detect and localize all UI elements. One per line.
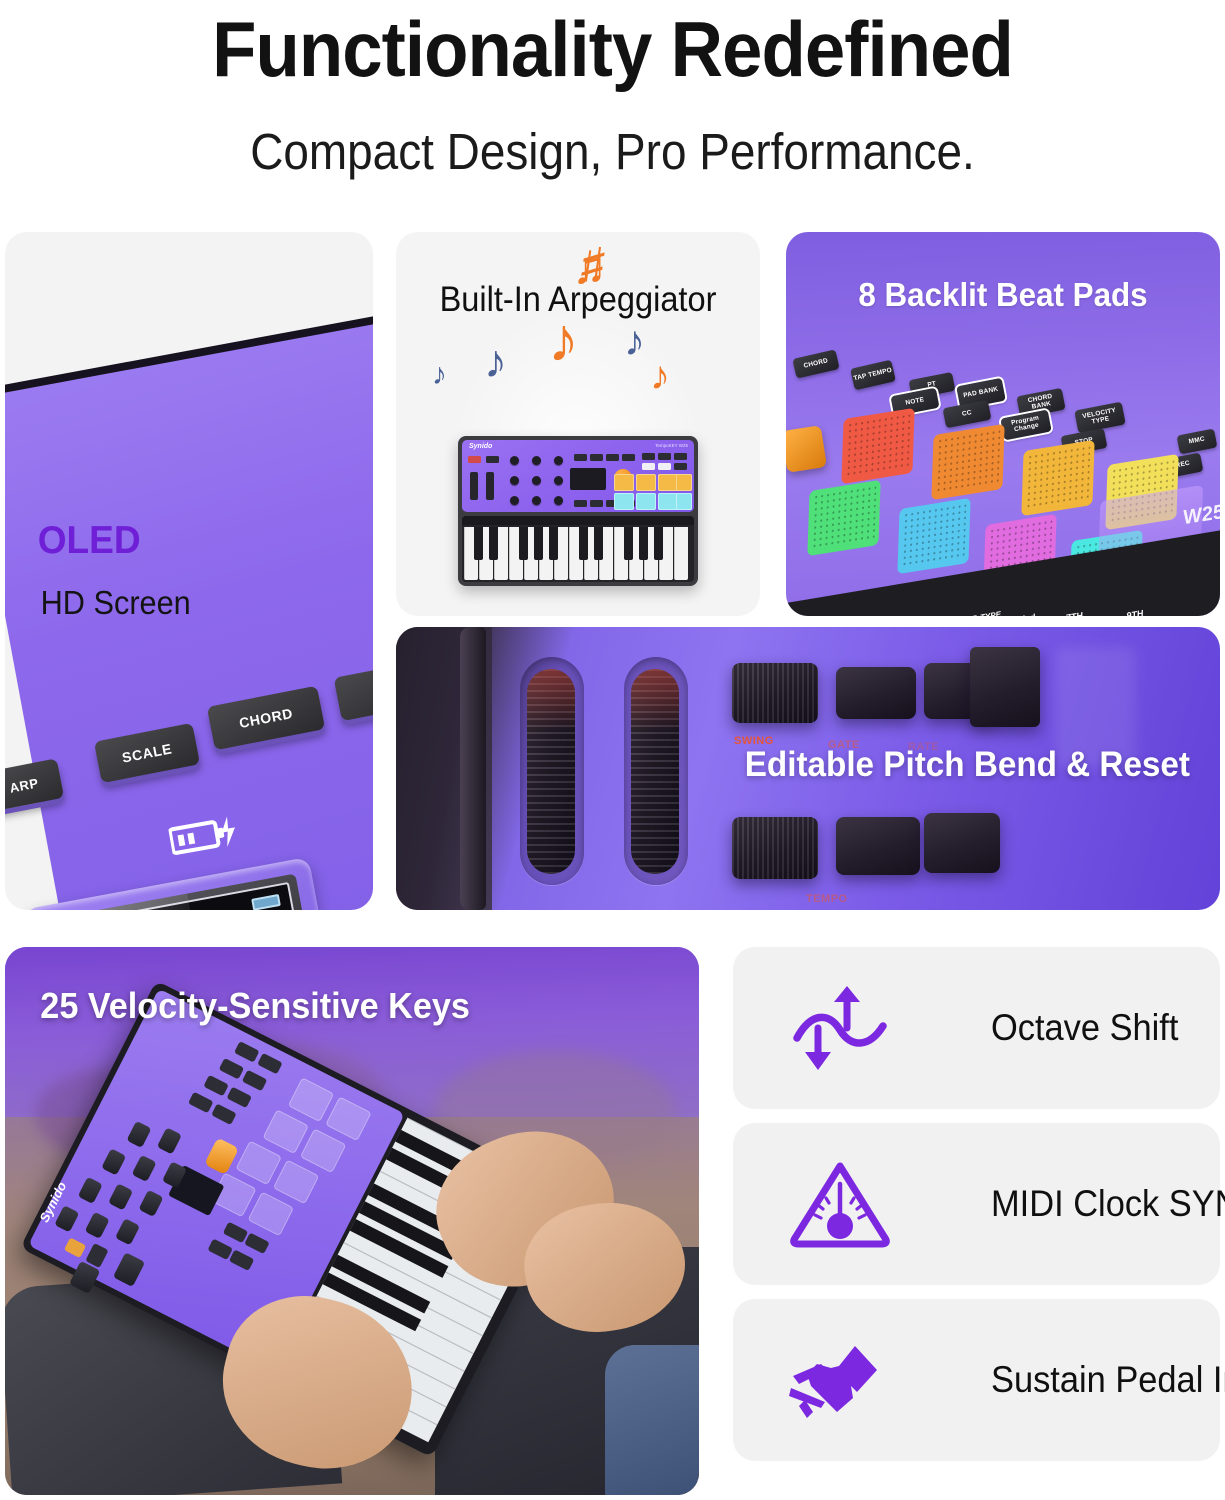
knob-gate	[836, 667, 916, 719]
knob-aux-2	[924, 813, 1000, 873]
mini-slider-pitch	[470, 472, 478, 500]
mini-keybed	[462, 516, 694, 582]
pads-button-chord: CHORD	[792, 349, 839, 378]
infographic-page: Functionality Redefined Compact Design, …	[0, 0, 1225, 1500]
pads-button-cc: CC	[943, 400, 992, 428]
device-brand-label: Synido	[469, 443, 492, 450]
feature-label-octave-shift: Octave Shift	[991, 1007, 1178, 1049]
beat-pad-2	[931, 424, 1004, 500]
mini-button-dark	[486, 456, 499, 463]
beat-pads-title: 8 Backlit Beat Pads	[797, 276, 1209, 314]
beat-pad-5	[807, 480, 880, 556]
arpeggiator-feature-card: ♯ ♫ ♪ ♪ ♪ ♪ ♪ Synido TempoKEY W25	[396, 232, 760, 616]
mini-display	[570, 468, 606, 490]
page-subtitle: Compact Design, Pro Performance.	[61, 122, 1164, 181]
keyboard-pitch-slider	[113, 1252, 145, 1287]
mini-button-red	[468, 456, 481, 463]
mini-key-label-strip	[462, 516, 694, 525]
oled-feature-card: ARP SCALE CHORD TempoKEY W25 TRANSPOSE O…	[5, 232, 373, 910]
knob-tempo	[732, 817, 818, 879]
velocity-keys-title: 25 Velocity-Sensitive Keys	[40, 985, 470, 1027]
knob-rate-2	[970, 647, 1040, 727]
feature-card-midi-clock-sync: MIDI Clock SYNC	[733, 1123, 1220, 1285]
pads-button-program-change: Program Change	[1000, 410, 1051, 441]
midi-clock-sync-icon	[785, 1158, 895, 1250]
keyboard-amber-button	[64, 1237, 86, 1258]
knob-aux-1	[836, 817, 920, 875]
feature-label-midi-clock-sync: MIDI Clock SYNC	[991, 1183, 1225, 1225]
beat-pad-1	[841, 408, 914, 484]
mini-slider-mod	[486, 472, 494, 500]
keyboard-orange-knob	[204, 1137, 239, 1175]
device-side-edge	[460, 627, 486, 910]
music-note-icon-5: ♪	[484, 338, 507, 384]
scene-jeans-denim	[605, 1345, 699, 1495]
page-title: Functionality Redefined	[43, 4, 1182, 95]
pitch-wheel-slot-2	[624, 657, 688, 885]
mod-wheel-highlight	[631, 669, 679, 731]
pitch-wheel-highlight	[527, 669, 575, 731]
pads-device-body: CHORD TAP TEMPO PT NOTE PAD BANK CC CHOR…	[786, 318, 1220, 616]
oled-subtitle: HD Screen	[41, 584, 191, 622]
pads-orange-knob	[786, 425, 827, 473]
beat-pads-feature-card: CHORD TAP TEMPO PT NOTE PAD BANK CC CHOR…	[786, 232, 1220, 616]
feature-label-sustain-pedal: Sustain Pedal Input	[991, 1359, 1225, 1401]
oled-title: OLED	[38, 519, 141, 563]
beat-pad-3	[1021, 440, 1094, 516]
pads-button-tap-tempo: TAP TEMPO	[850, 360, 896, 391]
mini-keyboard-illustration: Synido TempoKEY W25	[458, 436, 698, 586]
pitch-bend-feature-card: SWING GATE RATE TEMPO Editable Pitch Ben…	[396, 627, 1220, 910]
knob-swing	[732, 663, 818, 723]
octave-shift-icon	[785, 982, 895, 1074]
pads-button-mmc: MMC	[1177, 429, 1218, 455]
key-label-7th: 7TH	[1065, 610, 1083, 616]
mini-control-panel: Synido TempoKEY W25	[462, 440, 694, 512]
knob-label-tempo: TEMPO	[806, 893, 848, 905]
feature-card-sustain-pedal: Sustain Pedal Input	[733, 1299, 1220, 1461]
pitch-wheel-slot-1	[520, 657, 584, 885]
screen-battery-icon	[251, 894, 281, 910]
key-label-triad: Triad	[1013, 612, 1036, 616]
header: Functionality Redefined Compact Design, …	[0, 0, 1225, 215]
key-label-9th: 9TH	[1126, 608, 1144, 616]
beat-pad-6	[897, 498, 970, 574]
velocity-keys-photo-card: Synido	[5, 947, 699, 1495]
device-model-label: TempoKEY W25	[655, 443, 688, 448]
music-note-icon-4: ♪	[624, 320, 645, 362]
music-note-icon-7: ♪	[650, 356, 670, 396]
music-note-icon-6: ♪	[432, 360, 447, 390]
sustain-pedal-icon	[785, 1334, 895, 1426]
feature-card-octave-shift: Octave Shift	[733, 947, 1220, 1109]
key-label-chord-type: CHORD TYPE	[949, 610, 1002, 616]
arpeggiator-title: Built-In Arpeggiator	[409, 280, 748, 320]
pitch-bend-title: Editable Pitch Bend & Reset	[745, 745, 1190, 785]
